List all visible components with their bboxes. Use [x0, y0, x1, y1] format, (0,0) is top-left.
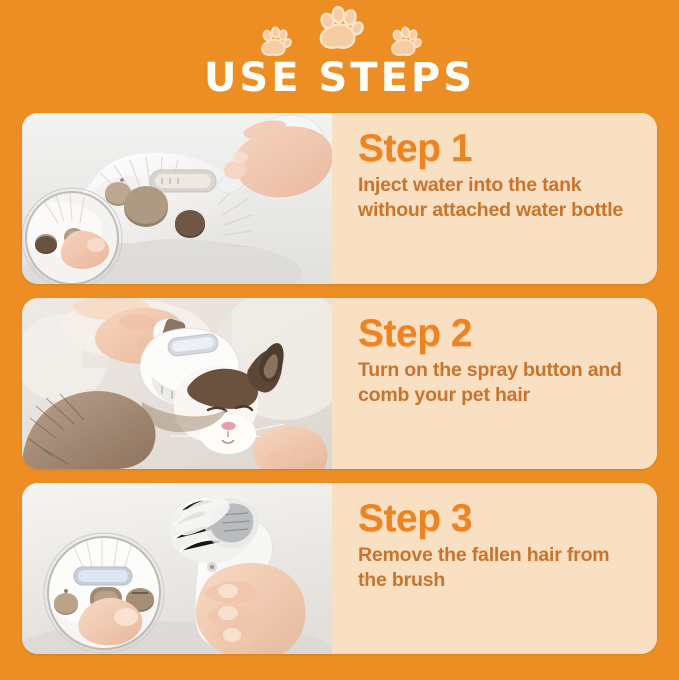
step-2-title: Step 2: [358, 314, 639, 354]
step-2-text: Step 2 Turn on the spray button and comb…: [332, 298, 657, 469]
step-3-description: Remove the fallen hair from the brush: [358, 543, 639, 594]
step-card-1: Step 1 Inject water into the tank withou…: [22, 113, 657, 284]
paw-print-large-center-icon: [316, 6, 364, 60]
step-1-title: Step 1: [358, 129, 639, 169]
step-1-description: Inject water into the tank withour attac…: [358, 173, 639, 224]
step-2-description: Turn on the spray button and comb your p…: [358, 358, 639, 409]
step-card-2: Step 2 Turn on the spray button and comb…: [22, 298, 657, 469]
step-2-photo: [22, 298, 332, 469]
step-1-photo: [22, 113, 332, 284]
step-3-photo: [22, 483, 332, 654]
step-1-text: Step 1 Inject water into the tank withou…: [332, 113, 657, 284]
page-title: USE STEPS: [0, 58, 679, 98]
step-3-title: Step 3: [358, 499, 639, 539]
header: USE STEPS: [0, 0, 679, 113]
step-3-text: Step 3 Remove the fallen hair from the b…: [332, 483, 657, 654]
use-steps-infographic: USE STEPS: [0, 0, 679, 679]
steps-list: Step 1 Inject water into the tank withou…: [0, 113, 679, 680]
step-card-3: Step 3 Remove the fallen hair from the b…: [22, 483, 657, 654]
paw-print-row: [0, 16, 679, 60]
